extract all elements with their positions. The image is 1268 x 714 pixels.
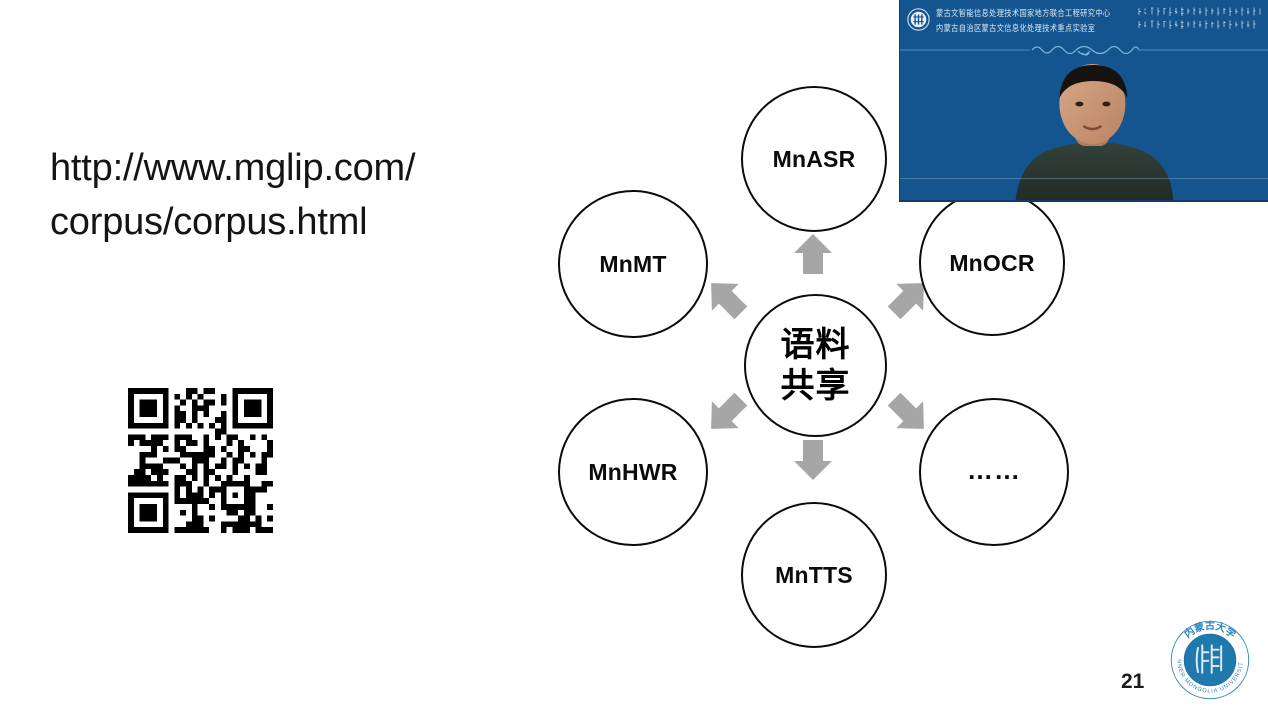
video-panel-title-cn: 蒙古文智能信息处理技术国家地方联合工程研究中心 内蒙古自治区蒙古文信息化处理技术… [936, 7, 1131, 36]
university-seal-icon [907, 8, 930, 31]
webcam-video-feed[interactable]: 蒙古文智能信息处理技术国家地方联合工程研究中心 内蒙古自治区蒙古文信息化处理技术… [899, 0, 1268, 202]
arrow-north-west-icon [702, 274, 750, 322]
diagram-node-asr[interactable]: MnASR [741, 86, 887, 232]
arrow-down-icon [792, 438, 834, 482]
qr-code[interactable] [128, 388, 273, 533]
corpus-url-text: http://www.mglip.com/ corpus/corpus.html [50, 142, 520, 250]
diagram-node-asr-label: MnASR [773, 147, 856, 171]
diagram-node-more-label: …… [967, 457, 1021, 484]
inner-mongolia-university-logo: 内蒙古大学 INNER MONGOLIA UNIVERSITY 1957 [1167, 617, 1253, 703]
presenter-webcam-portrait [987, 60, 1197, 202]
mongolian-script-text [1136, 6, 1264, 36]
uni-logo-year: 1957 [1204, 680, 1217, 686]
diagram-node-mt[interactable]: MnMT [558, 190, 708, 338]
arrow-south-west-icon [702, 390, 750, 438]
video-panel-baseline [900, 178, 1268, 179]
diagram-node-more[interactable]: …… [919, 398, 1069, 546]
diagram-node-ocr[interactable]: MnOCR [919, 190, 1065, 336]
diagram-node-hwr[interactable]: MnHWR [558, 398, 708, 546]
ornament-divider-icon [900, 44, 1268, 58]
diagram-node-tts[interactable]: MnTTS [741, 502, 887, 648]
diagram-node-hwr-label: MnHWR [588, 460, 677, 484]
diagram-node-mt-label: MnMT [599, 252, 666, 276]
arrow-up-icon [792, 232, 834, 276]
arrow-south-east-icon [885, 390, 933, 438]
diagram-center-node[interactable]: 语料 共享 [744, 294, 887, 437]
diagram-center-label-line2: 共享 [781, 366, 851, 406]
diagram-center-label-line1: 语料 [781, 325, 851, 365]
page-number: 21 [1121, 670, 1144, 694]
qr-code-icon [128, 388, 273, 533]
diagram-node-tts-label: MnTTS [775, 563, 853, 587]
diagram-node-ocr-label: MnOCR [949, 251, 1034, 275]
